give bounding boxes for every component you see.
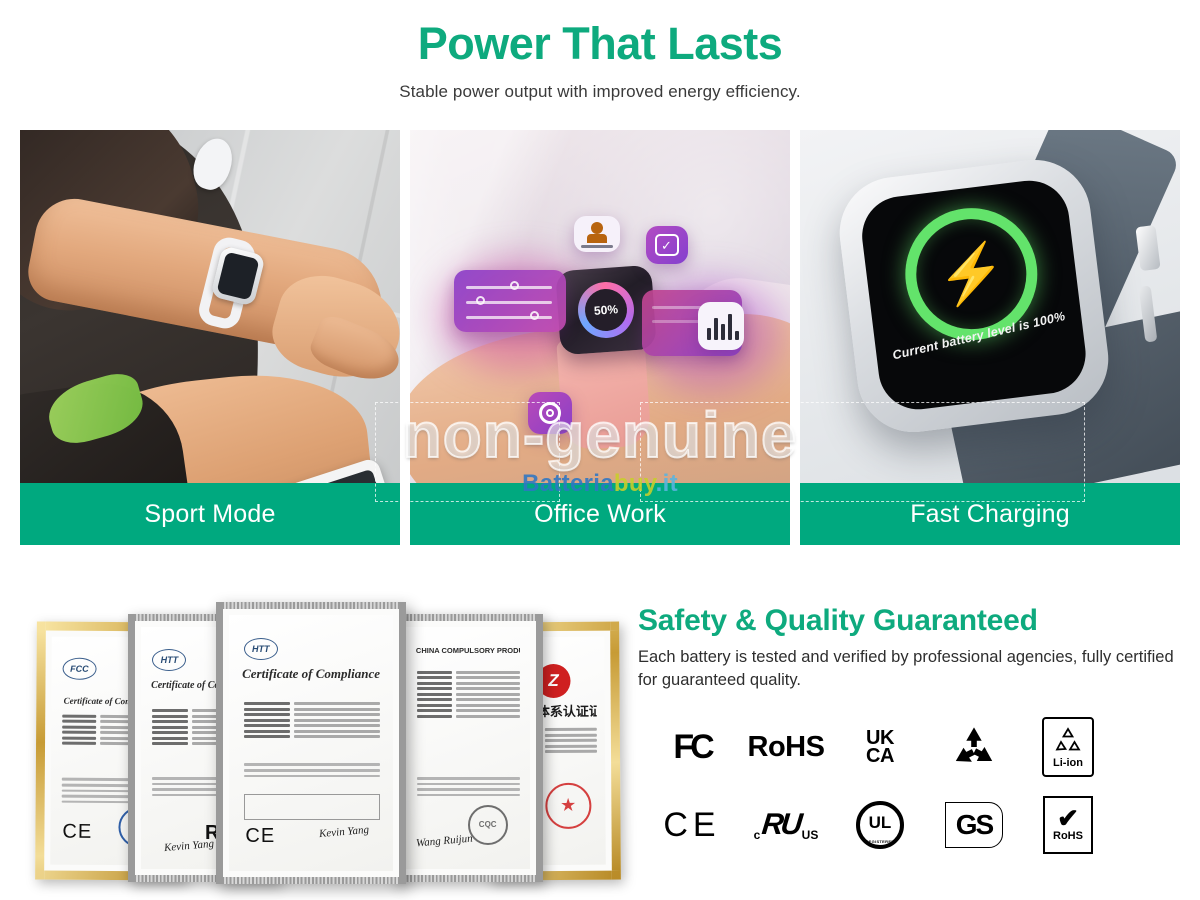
gs-badge-label: GS — [945, 802, 1003, 848]
fcc-logo-icon: FCC — [62, 657, 96, 679]
certificate-collage: FCC Certificate of Compliance CE CB HTT … — [18, 600, 618, 890]
ul-badge-label: UL — [869, 813, 892, 833]
rohs-tick-badge: ✔ RoHS — [1043, 796, 1093, 854]
feature-card-label-fast-charging: Fast Charging — [800, 483, 1180, 545]
rohs-badge-label: RoHS — [748, 731, 825, 764]
htt-logo-icon: HTT — [244, 638, 278, 660]
certificate-title: Certificate of Compliance — [242, 666, 380, 682]
rohs-badge: RoHS — [748, 731, 825, 764]
feature-card-office-work[interactable]: ✓ 50% Office Work — [410, 130, 790, 545]
certificate-stamp: CQC — [468, 805, 508, 845]
certification-section: FCC Certificate of Compliance CE CB HTT … — [0, 590, 1200, 900]
feature-card-sport-mode[interactable]: Sport Mode — [20, 130, 400, 545]
ce-mark: CE — [62, 821, 92, 844]
certificate-title: CHINA COMPULSORY PRODUCT CERTIFICATION — [416, 646, 520, 655]
feature-card-row: Sport Mode — [20, 130, 1180, 545]
li-ion-badge-label: Li-ion — [1053, 757, 1083, 769]
ce-badge-label: CE — [663, 806, 720, 845]
feature-card-label-sport-mode: Sport Mode — [20, 483, 400, 545]
ukca-badge: UK CA — [866, 729, 894, 766]
ul-registered-badge: UL — [856, 801, 904, 849]
page-header: Power That Lasts Stable power output wit… — [0, 0, 1200, 102]
contact-card-tile — [574, 216, 620, 252]
certification-badge-grid: FC RoHS UK CA — [645, 708, 1115, 864]
red-official-stamp: ★ — [545, 782, 591, 828]
battery-percent-value: 50% — [594, 302, 619, 318]
cul-prefix: c — [754, 828, 761, 842]
certificate-signature: Wang Ruijun — [415, 833, 473, 850]
fcc-badge-label: FC — [673, 728, 710, 767]
htt-logo-icon: HTT — [152, 649, 186, 671]
recycle-icon — [951, 726, 997, 768]
cul-us-badge: c RU US — [754, 808, 819, 842]
certificate-card: HTT Certificate of Compliance CE Kevin Y… — [216, 602, 406, 884]
ul-mark: RU — [761, 808, 802, 842]
li-ion-badge: Li-ion — [1042, 717, 1094, 777]
feature-card-fast-charging[interactable]: ⚡ Current battery level is 100% Fast Cha… — [800, 130, 1180, 545]
battery-ring-indicator: 50% — [576, 280, 636, 340]
ukca-line2: CA — [866, 747, 894, 765]
settings-sliders-tile — [454, 270, 566, 332]
ce-mark: CE — [245, 825, 275, 848]
certificate-signature: Kevin Yang — [319, 824, 370, 840]
quality-title: Safety & Quality Guaranteed — [638, 604, 1183, 638]
feature-card-label-office-work: Office Work — [410, 483, 790, 545]
bar-chart-tile — [698, 302, 744, 350]
quality-description: Each battery is tested and verified by p… — [638, 646, 1183, 693]
gear-app-tile — [528, 392, 572, 434]
checkmark-icon: ✔ — [1057, 808, 1079, 829]
recycle-icon — [1052, 726, 1084, 756]
checkbox-app-tile: ✓ — [646, 226, 688, 264]
watch-screen: ⚡ Current battery level is 100% — [858, 176, 1091, 414]
cul-suffix: US — [802, 828, 819, 842]
smartwatch-device: ⚡ Current battery level is 100% — [833, 154, 1114, 439]
fcc-badge: FC — [673, 728, 710, 767]
page-title: Power That Lasts — [0, 18, 1200, 70]
certificate-signature: Kevin Yang — [163, 838, 214, 854]
certificate-card: CHINA COMPULSORY PRODUCT CERTIFICATION C… — [393, 614, 543, 882]
gs-badge: GS — [945, 802, 1003, 848]
quality-text-block: Safety & Quality Guaranteed Each battery… — [638, 604, 1183, 693]
page-subtitle: Stable power output with improved energy… — [0, 82, 1200, 102]
recycle-badge — [951, 726, 997, 768]
rohs-tick-badge-label: RoHS — [1053, 830, 1083, 842]
lightning-bolt-icon: ⚡ — [933, 242, 1009, 306]
ce-badge: CE — [663, 806, 720, 845]
